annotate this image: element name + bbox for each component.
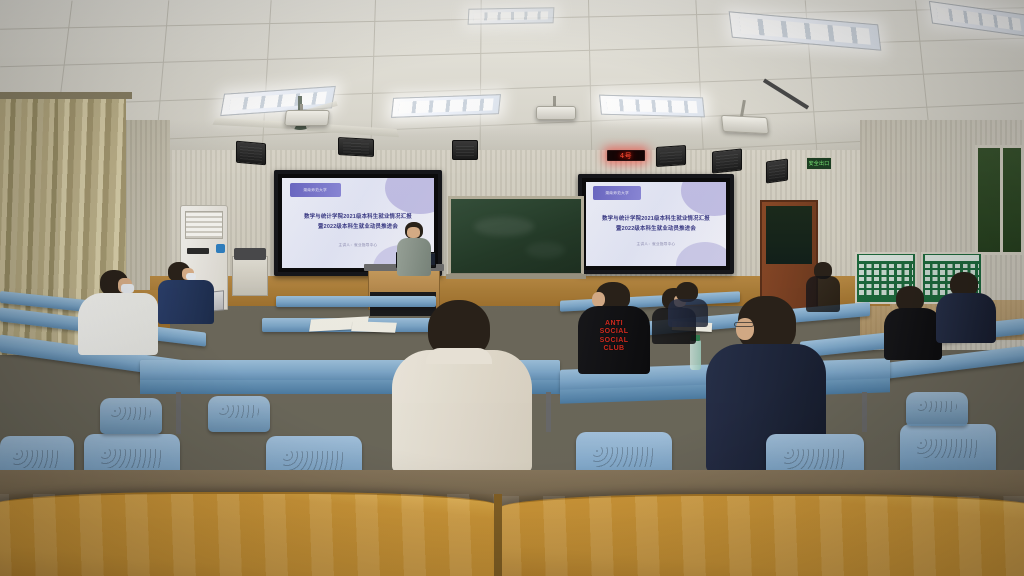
chair[interactable] xyxy=(100,398,162,434)
desk-leg xyxy=(862,392,867,432)
side-cabinet xyxy=(232,256,268,296)
wall-speaker-right xyxy=(656,145,686,167)
led-display-text: 4号 xyxy=(620,151,632,161)
person-right-mid xyxy=(668,282,710,326)
chalkboard xyxy=(448,196,584,276)
air-conditioner-badge xyxy=(216,244,225,253)
torso xyxy=(78,293,158,355)
ceiling-light-panel xyxy=(391,94,501,118)
torso xyxy=(158,280,214,324)
door-window xyxy=(766,206,812,264)
ceiling-light-panel xyxy=(468,7,555,25)
led-display: 4号 xyxy=(607,150,645,161)
shirt-graphic-text: ANTI SOCIAL SOCIAL CLUB xyxy=(578,320,650,354)
wall-speaker-right-2 xyxy=(712,148,742,173)
curtain-rod xyxy=(0,92,132,99)
wall-speaker-far-right xyxy=(766,158,788,183)
projection-screen-right: 湖南师范大学 数学与统计学院2021级本科生就业情况汇报 暨2022级本科生就业… xyxy=(578,174,734,274)
desk-leg xyxy=(546,392,551,432)
projector-center xyxy=(536,106,576,120)
chair[interactable] xyxy=(208,396,270,432)
counter-seam xyxy=(494,494,502,576)
ceiling-light-panel xyxy=(599,95,705,118)
torso xyxy=(884,308,942,360)
air-conditioner-vent xyxy=(185,211,223,239)
front-desk-counter-left xyxy=(0,492,498,576)
water-bottle xyxy=(690,340,701,370)
slide-right: 湖南师范大学 数学与统计学院2021级本科生就业情况汇报 暨2022级本科生就业… xyxy=(586,182,726,266)
printer-unit xyxy=(234,248,266,260)
wall-speaker-center xyxy=(452,140,478,160)
slide-logo-text: 湖南师范大学 xyxy=(605,190,629,195)
person-left-white xyxy=(78,270,164,360)
face-mask xyxy=(121,284,134,293)
chair[interactable] xyxy=(906,392,968,426)
air-conditioner-display xyxy=(187,248,209,254)
torso xyxy=(806,276,840,312)
person-right-rear-b xyxy=(936,272,998,344)
slide-logo-text: 湖南师范大学 xyxy=(304,187,328,192)
face-mask xyxy=(186,273,196,280)
torso xyxy=(936,293,996,343)
person-presenter xyxy=(392,222,436,282)
face xyxy=(592,292,605,307)
person-anti-social-shirt: ANTI SOCIAL SOCIAL CLUB xyxy=(578,282,652,374)
presenter-face xyxy=(407,227,420,238)
collar xyxy=(426,348,492,364)
person-left-blue xyxy=(158,262,220,326)
presenter-torso xyxy=(397,238,431,276)
classroom-photo: 湖南师范大学 数学与统计学院2021级本科生就业情况汇报 暨2022级本科生就业… xyxy=(0,0,1024,576)
front-desk-counter-right xyxy=(500,494,1024,576)
torso: ANTI SOCIAL SOCIAL CLUB xyxy=(578,306,650,374)
slide-logo-right: 湖南师范大学 xyxy=(593,186,641,199)
chalk-tray xyxy=(446,274,586,279)
exit-sign-text: 安全出口 xyxy=(809,160,830,167)
slide-logo-left: 湖南师范大学 xyxy=(290,183,342,197)
slide-title-right: 数学与统计学院2021级本科生就业情况汇报 暨2022级本科生就业动员推进会 xyxy=(594,214,717,235)
slide-subtitle-right: 主讲人：就业指导中心 xyxy=(594,242,717,247)
eyeglasses-icon xyxy=(734,322,754,327)
wall-speaker-left xyxy=(236,141,266,166)
desk-leg xyxy=(176,392,181,434)
torso xyxy=(668,299,708,327)
person-right-rear-a xyxy=(884,286,944,360)
person-front-center xyxy=(392,300,534,472)
person-far-right-wall xyxy=(806,262,842,312)
torso xyxy=(392,350,532,472)
paper-sheet xyxy=(351,321,397,332)
exit-sign: 安全出口 xyxy=(806,157,832,170)
wall-speaker-left-2 xyxy=(338,137,374,157)
window-right xyxy=(975,145,1024,255)
